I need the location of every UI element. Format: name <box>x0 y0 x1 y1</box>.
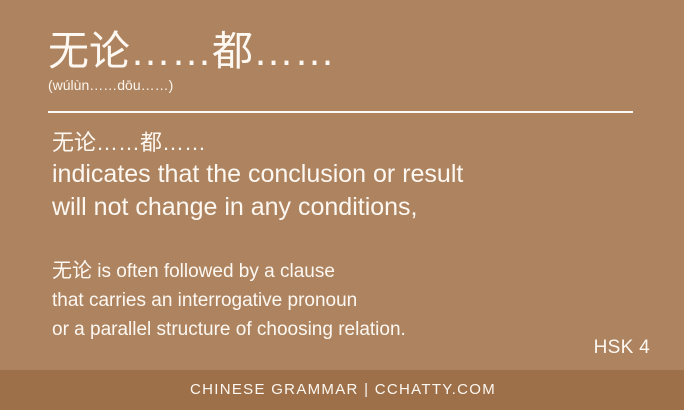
hsk-level-badge: HSK 4 <box>594 337 650 359</box>
definition-block: 无论……都…… indicates that the conclusion or… <box>52 128 652 224</box>
footer-branding-text: CHINESE GRAMMAR | CCHATTY.COM <box>188 381 496 399</box>
pinyin-subtitle: (wúlùn……dōu……) <box>48 76 636 94</box>
header-divider <box>48 111 633 113</box>
usage-line-2: that carries an interrogative pronoun <box>52 286 652 315</box>
usage-line-3: or a parallel structure of choosing rela… <box>52 315 652 344</box>
card-body: 无论……都…… indicates that the conclusion or… <box>52 128 652 344</box>
footer-bar: CHINESE GRAMMAR | CCHATTY.COM <box>0 370 684 410</box>
card-header: 无论……都…… (wúlùn……dōu……) <box>48 28 636 94</box>
definition-english-line-2: will not change in any conditions, <box>52 191 652 224</box>
usage-line-1: 无论 is often followed by a clause <box>52 257 652 286</box>
definition-chinese-line: 无论……都…… <box>52 128 652 158</box>
page-title: 无论……都…… <box>48 28 636 74</box>
definition-english-line-1: indicates that the conclusion or result <box>52 158 652 191</box>
usage-block: 无论 is often followed by a clause that ca… <box>52 257 652 344</box>
usage-line-1-rest: is often followed by a clause <box>92 261 335 282</box>
grammar-card: 无论……都…… (wúlùn……dōu……) 无论……都…… indicates… <box>0 0 684 410</box>
usage-keyword-chinese: 无论 <box>52 260 92 282</box>
